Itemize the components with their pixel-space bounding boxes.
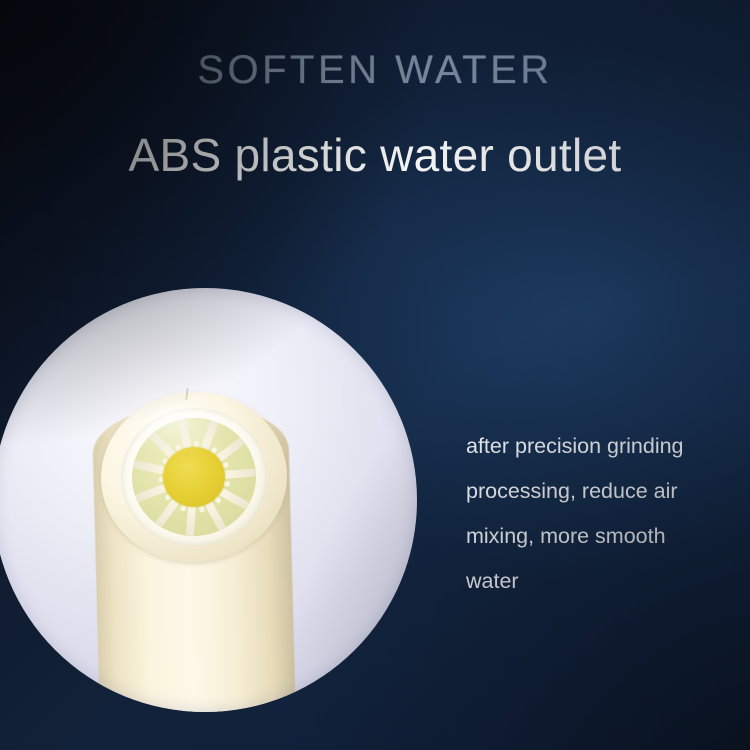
description-line: mixing, more smooth [466, 514, 738, 559]
nozzle-center-hub [161, 445, 227, 509]
product-photo [0, 288, 417, 712]
nozzle-spoke [190, 417, 219, 478]
feature-description: after precision grinding processing, red… [466, 424, 738, 604]
nozzle-hub-tab [161, 458, 195, 479]
nozzle-hub-tab [192, 447, 217, 479]
nozzle-spoke [186, 477, 198, 539]
nozzle-spoke [154, 475, 197, 529]
nozzle-spoke [147, 430, 197, 479]
nozzle-spoke [192, 473, 250, 510]
description-line: after precision grinding [466, 424, 738, 469]
nozzle-spoke [135, 473, 196, 502]
nozzle-outer-rim [95, 386, 292, 569]
nozzle-spoke-wheel [128, 414, 260, 540]
description-line: water [466, 559, 738, 604]
nozzle-spoke [177, 416, 198, 478]
nozzle-inner-lip [116, 403, 271, 551]
nozzle-hub-tab [192, 441, 199, 477]
nozzle-hub-tab [192, 475, 221, 504]
nozzle-mold-seam [185, 388, 188, 400]
nozzle-hub-tab [174, 444, 196, 478]
nozzle-body-shading [92, 403, 297, 712]
nozzle-hub-tab [164, 475, 196, 501]
nozzle-spoke [194, 468, 256, 480]
banner-eyebrow: SOFTEN WATER [0, 48, 750, 93]
nozzle-hub-tab [193, 462, 228, 480]
nozzle-hub-tab [193, 475, 229, 487]
product-feature-banner: SOFTEN WATER ABS plastic water outlet af… [0, 0, 750, 750]
nozzle-hub-tab [192, 476, 205, 512]
specular-highlight [113, 384, 233, 454]
nozzle-spoke [133, 460, 195, 481]
nozzle-spoke [190, 475, 227, 533]
nozzle-body [92, 403, 297, 712]
banner-headline: ABS plastic water outlet [0, 128, 750, 182]
description-line: processing, reduce air [466, 469, 738, 514]
nozzle-spoke [192, 437, 246, 481]
nozzle-hub-tab [179, 476, 196, 512]
nozzle-hub-tab [158, 475, 194, 483]
